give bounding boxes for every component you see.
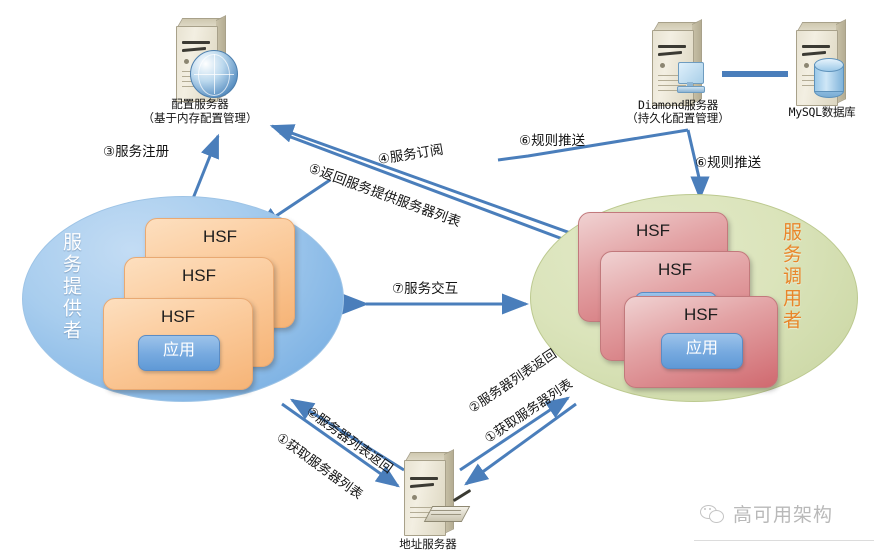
provider-hsf-title: HSF [104,307,252,327]
mysql-db-caption: MySQL数据库 [752,105,874,119]
wechat-eye-icon [704,508,706,510]
consumer-hsf-title: HSF [579,221,727,241]
server-led-icon [184,59,189,64]
server-front-panel [404,460,446,536]
watermark: 高可用架构 [700,500,833,527]
provider-app-box: 应用 [138,335,220,371]
diamond-server-subtitle: （持久化配置管理） [598,112,758,126]
provider-hsf-card: HSF 应用 [103,298,253,390]
mysql-db-name: MySQL数据库 [752,105,874,119]
consumer-hsf-title: HSF [625,305,777,325]
wechat-bubble-front-icon [709,510,724,523]
edge-label-3: ③服务注册 [103,144,169,160]
server-led-icon [412,495,417,500]
server-slot-icon [802,45,830,48]
watermark-text: 高可用架构 [733,500,833,527]
address-server-name: 地址服务器 [358,538,498,552]
wechat-eye-icon [709,508,711,510]
globe-ring-icon [198,54,230,96]
edge-label-4: ④服务订阅 [377,142,445,168]
globe-icon [190,50,238,98]
monitor-screen-icon [678,62,704,84]
server-slot-icon [802,51,826,56]
monitor-icon [676,62,706,96]
address-server-caption: 地址服务器 [358,538,498,552]
provider-hsf-title: HSF [146,227,294,247]
server-slot-icon [658,51,682,56]
server-led-icon [804,63,809,68]
server-slot-icon [182,41,210,44]
consumer-hsf-title: HSF [601,260,749,280]
diagram-canvas: 配置服务器 （基于内存配置管理） Diamond服务器 （持久化配置管理） [0,0,874,556]
address-server-icon [398,452,460,542]
provider-group-label: 服务提供者 [58,232,83,342]
keyboard-row-icon [431,510,462,511]
config-server-name: 配置服务器 [120,98,280,112]
consumer-app-box: 应用 [661,333,743,369]
config-server-subtitle: （基于内存配置管理） [120,112,280,126]
diamond-server-caption: Diamond服务器 （持久化配置管理） [598,98,758,126]
edge-label-5: ⑤返回服务提供服务器列表 [306,160,462,230]
consumer-hsf-card: HSF 应用 [624,296,778,388]
server-slot-icon [182,47,206,52]
cylinder-top-icon [814,58,844,72]
server-led-icon [660,63,665,68]
monitor-base-icon [677,86,705,93]
server-slot-icon [410,477,438,480]
wechat-icon [700,503,726,525]
edge-label-6-left: ⑥规则推送 [519,133,585,149]
diamond-server-name: Diamond服务器 [598,98,758,112]
database-cylinder-icon [814,58,844,96]
config-server-caption: 配置服务器 （基于内存配置管理） [120,98,280,126]
server-slot-icon [658,45,686,48]
watermark-divider [694,540,874,541]
edge-label-7: ⑦服务交互 [392,281,458,297]
provider-hsf-title: HSF [125,266,273,286]
server-slot-icon [410,483,434,488]
keyboard-row-icon [431,514,462,515]
keyboard-icon [428,500,468,522]
edge-label-6-right: ⑥规则推送 [695,155,761,171]
consumer-group-label: 服务调用者 [778,222,803,332]
